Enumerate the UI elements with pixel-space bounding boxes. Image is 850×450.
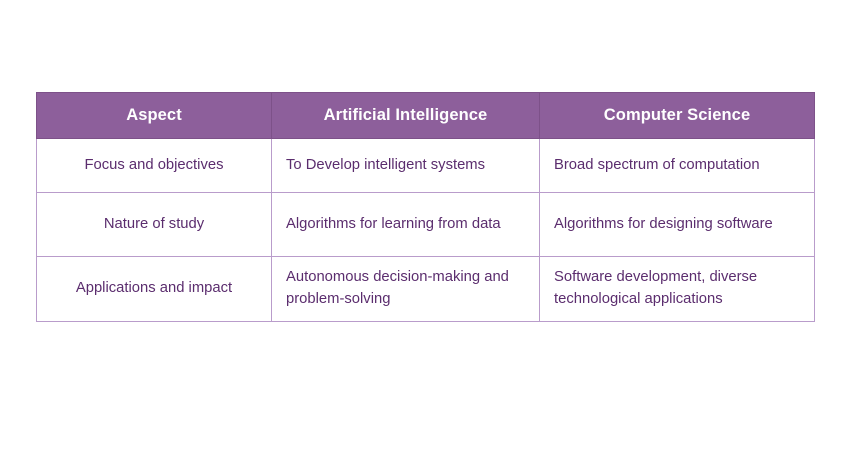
cell-artificial-intelligence: To Develop intelligent systems: [272, 139, 540, 193]
table-header: Aspect Artificial Intelligence Computer …: [37, 93, 815, 139]
cell-aspect: Applications and impact: [37, 257, 272, 322]
comparison-table: Aspect Artificial Intelligence Computer …: [36, 92, 815, 322]
cell-aspect: Nature of study: [37, 193, 272, 257]
page-canvas: Aspect Artificial Intelligence Computer …: [0, 0, 850, 450]
table-row: Nature of study Algorithms for learning …: [37, 193, 815, 257]
comparison-table-container: Aspect Artificial Intelligence Computer …: [36, 92, 814, 322]
table-row: Focus and objectives To Develop intellig…: [37, 139, 815, 193]
table-row: Applications and impact Autonomous decis…: [37, 257, 815, 322]
cell-computer-science: Software development, diverse technologi…: [540, 257, 815, 322]
cell-aspect: Focus and objectives: [37, 139, 272, 193]
table-body: Focus and objectives To Develop intellig…: [37, 139, 815, 322]
cell-computer-science: Broad spectrum of computation: [540, 139, 815, 193]
header-aspect: Aspect: [37, 93, 272, 139]
header-artificial-intelligence: Artificial Intelligence: [272, 93, 540, 139]
cell-computer-science: Algorithms for designing software: [540, 193, 815, 257]
cell-artificial-intelligence: Autonomous decision-making and problem-s…: [272, 257, 540, 322]
cell-artificial-intelligence: Algorithms for learning from data: [272, 193, 540, 257]
table-header-row: Aspect Artificial Intelligence Computer …: [37, 93, 815, 139]
header-computer-science: Computer Science: [540, 93, 815, 139]
